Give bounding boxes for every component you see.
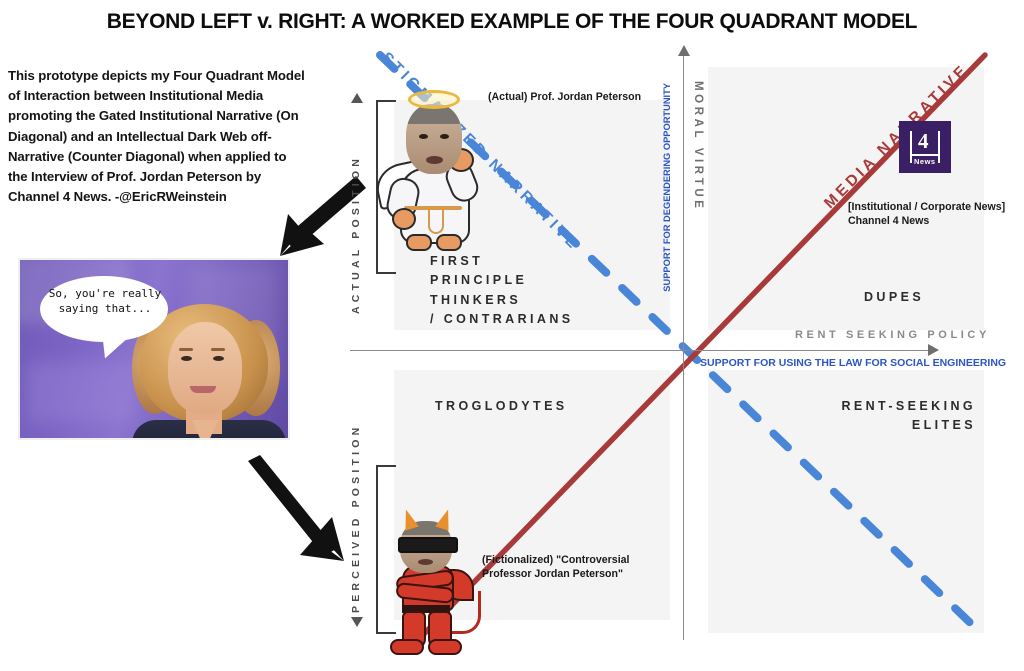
quadrant-label-bottom-right: RENT-SEEKING ELITES	[780, 397, 976, 436]
devil-horn-right	[435, 507, 454, 530]
speech-bubble-line-1: So, you're really	[46, 286, 164, 301]
devil-foot-right	[428, 639, 462, 655]
peterson-mouth	[426, 156, 443, 164]
actual-position-label: ACTUAL POSITION	[350, 109, 362, 314]
channel-4-divider	[910, 154, 940, 156]
presenter-eyebrow-left	[179, 348, 193, 351]
caption-fiction-line-1: (Fictionalized) "Controversial	[482, 553, 629, 567]
caption-c4-line-2: Channel 4 News	[848, 214, 1005, 228]
presenter-mouth	[190, 386, 216, 393]
quadrant-label-top-left: FIRST PRINCIPLE THINKERS / CONTRARIANS	[430, 252, 574, 330]
presenter-eyebrow-right	[211, 348, 225, 351]
angel-foot-right	[436, 234, 462, 251]
presenter-face	[168, 322, 242, 414]
quadrant-label-elites-line-1: RENT-SEEKING	[780, 397, 976, 416]
channel-4-frame-left	[910, 131, 912, 163]
y-axis-arrowhead	[678, 45, 690, 56]
caption-actual-peterson: (Actual) Prof. Jordan Peterson	[488, 90, 641, 104]
perceived-position-arrow	[351, 617, 363, 627]
angel-halo	[408, 90, 460, 109]
devil-peterson-figure	[376, 507, 486, 657]
devil-mouth	[418, 559, 433, 565]
angel-foot-left	[406, 234, 432, 251]
quadrant-label-elites-line-2: ELITES	[780, 416, 976, 435]
devil-foot-left	[390, 639, 424, 655]
quadrant-label-top-right: DUPES	[864, 288, 924, 307]
quadrant-label-line-1: FIRST	[430, 252, 574, 271]
speech-bubble-text: So, you're really saying that...	[46, 286, 164, 316]
quadrant-label-bottom-left: TROGLODYTES	[435, 397, 568, 416]
devil-sunglasses	[398, 537, 458, 553]
x-axis-arrowhead	[928, 344, 939, 356]
channel-4-frame-right	[938, 131, 940, 163]
four-quadrant-chart: MORAL VIRTUE SUPPORT FOR DEGENDERING OPP…	[340, 45, 1024, 671]
quadrant-label-line-4: / CONTRARIANS	[430, 310, 574, 329]
caption-fiction-line-2: Professor Jordan Peterson"	[482, 567, 629, 581]
page-title: BEYOND LEFT v. RIGHT: A WORKED EXAMPLE O…	[0, 10, 1024, 34]
presenter-eye-right	[213, 356, 224, 361]
peterson-eye-left	[419, 134, 428, 139]
channel-4-logo: 4 News	[899, 121, 951, 173]
channel-4-numeral: 4	[918, 129, 929, 154]
quadrant-label-line-3: THINKERS	[430, 291, 574, 310]
presenter-eye-left	[181, 356, 192, 361]
peterson-eye-right	[440, 134, 449, 139]
perceived-position-label: PERCEIVED POSITION	[350, 383, 362, 613]
y-axis-title: MORAL VIRTUE	[692, 81, 704, 212]
quadrant-label-line-2: PRINCIPLE	[430, 271, 574, 290]
actual-position-arrow	[351, 93, 363, 103]
y-axis-subtitle: SUPPORT FOR DEGENDERING OPPORTUNITY	[662, 83, 672, 292]
x-axis-title: RENT SEEKING POLICY	[795, 329, 990, 341]
channel-4-news-text: News	[914, 157, 936, 166]
angel-hand-left	[392, 208, 416, 230]
interview-photo: So, you're really saying that...	[18, 258, 290, 440]
speech-bubble-line-2: saying that...	[46, 301, 164, 316]
y-axis-line	[683, 55, 684, 640]
x-axis-line	[350, 350, 930, 351]
photo-backdrop-glow-3	[26, 362, 136, 422]
angel-peterson-figure	[376, 90, 486, 250]
angel-peterson-face	[406, 104, 462, 174]
caption-c4-line-1: [Institutional / Corporate News]	[848, 200, 1005, 214]
angel-rope-tassel	[428, 208, 444, 234]
caption-fictionalized-peterson: (Fictionalized) "Controversial Professor…	[482, 553, 629, 582]
caption-channel-4: [Institutional / Corporate News] Channel…	[848, 200, 1005, 229]
x-axis-subtitle: SUPPORT FOR USING THE LAW FOR SOCIAL ENG…	[700, 357, 1006, 369]
